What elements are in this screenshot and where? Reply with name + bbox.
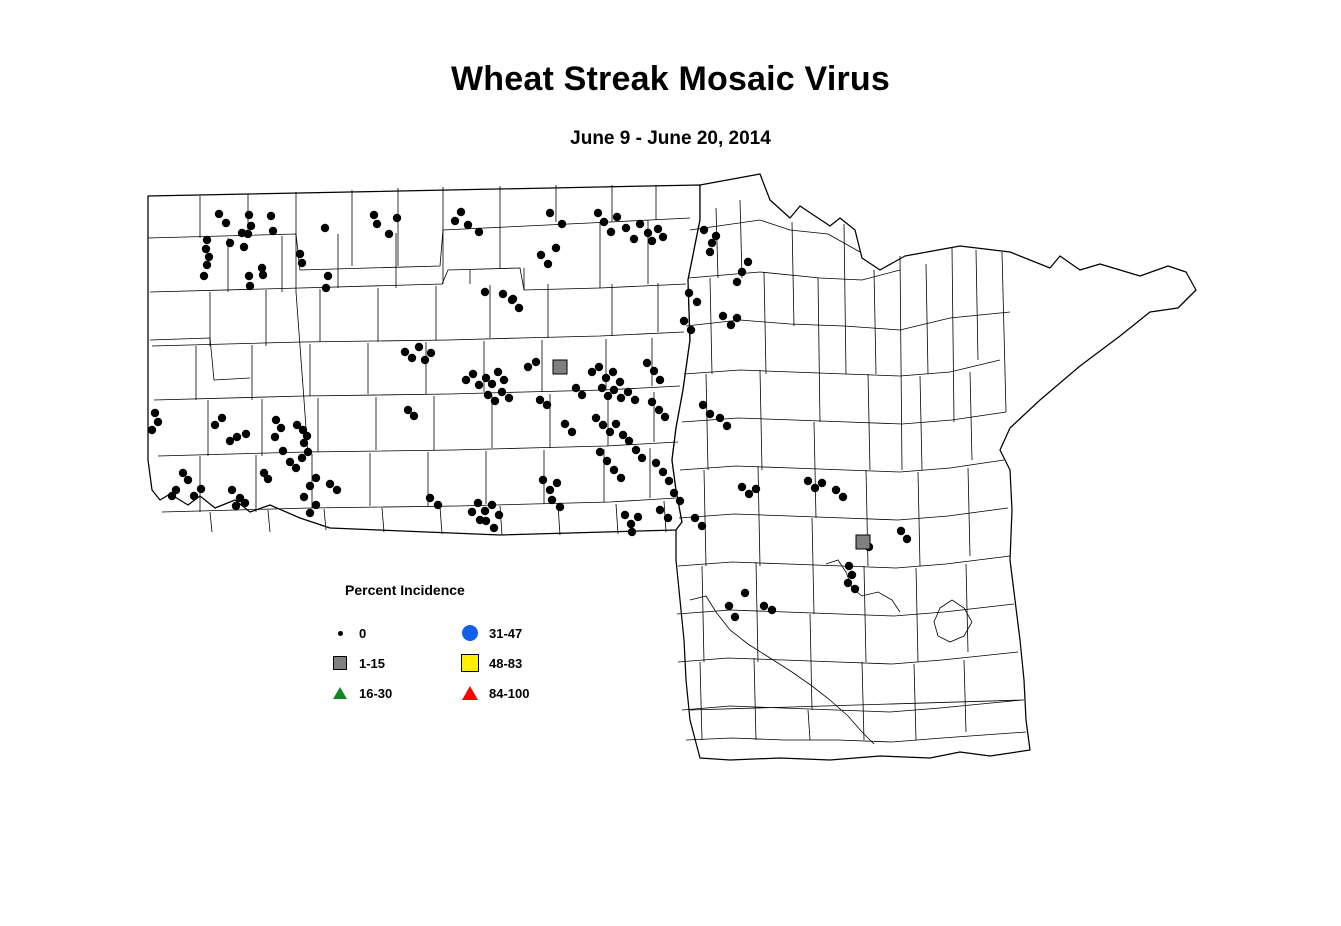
map-marker-zero [469,370,477,378]
map-marker-zero [494,368,502,376]
map-marker-zero [312,474,320,482]
map-marker-zero [687,326,695,334]
map-marker-zero [426,494,434,502]
map-marker-zero [698,522,706,530]
map-marker-zero [474,499,482,507]
map-marker-zero [536,396,544,404]
map-marker-zero [744,258,752,266]
map-marker-low [856,535,870,549]
map-marker-zero [408,354,416,362]
map-marker-zero [594,209,602,217]
map-marker-zero [197,485,205,493]
map-marker-zero [277,424,285,432]
map-marker-zero [665,477,673,485]
map-marker-zero [897,527,905,535]
map-marker-zero [298,259,306,267]
map-marker-zero [271,433,279,441]
map-marker-zero [727,321,735,329]
map-marker-zero [228,486,236,494]
map-marker-zero [712,232,720,240]
legend-label-3: 31-47 [489,626,522,641]
map-marker-zero [370,211,378,219]
map-marker-zero [656,376,664,384]
legend: Percent Incidence 0 1-15 16-30 31-47 [345,582,585,712]
map-marker-zero [215,210,223,218]
map-marker-zero [524,363,532,371]
map-marker-zero [300,493,308,501]
map-marker-zero [468,508,476,516]
map-marker-zero [661,413,669,421]
map-marker-zero [636,220,644,228]
map-marker-zero [296,250,304,258]
map-canvas[interactable] [0,160,1341,780]
map-marker-zero [691,514,699,522]
map-marker-zero [481,288,489,296]
map-marker-zero [733,278,741,286]
legend-item-2: 16-30 [327,678,392,708]
map-marker-zero [654,225,662,233]
map-marker-zero [602,374,610,382]
map-marker-zero [685,289,693,297]
map-marker-zero [304,448,312,456]
map-marker-zero [385,230,393,238]
legend-item-4: 48-83 [457,648,529,678]
map-marker-zero [610,386,618,394]
map-marker-zero [656,506,664,514]
map-marker-zero [490,524,498,532]
map-marker-zero [625,437,633,445]
blue-circle-icon [457,625,483,641]
map-marker-zero [628,528,636,536]
map-marker-zero [648,237,656,245]
map-marker-zero [427,349,435,357]
legend-item-5: 84-100 [457,678,529,708]
legend-item-0: 0 [327,618,392,648]
map-marker-zero [700,226,708,234]
map-marker-zero [848,571,856,579]
map-marker-zero [484,391,492,399]
map-marker-zero [238,229,246,237]
map-marker-zero [205,253,213,261]
map-marker-zero [619,431,627,439]
legend-item-3: 31-47 [457,618,529,648]
map-marker-zero [434,501,442,509]
map-marker-zero [333,486,341,494]
map-marker-zero [404,406,412,414]
map-marker-zero [609,368,617,376]
map-marker-zero [292,464,300,472]
map-marker-zero [211,421,219,429]
map-marker-zero [488,501,496,509]
map-marker-zero [612,420,620,428]
map-marker-zero [699,401,707,409]
map-marker-zero [768,606,776,614]
map-marker-zero [240,243,248,251]
map-marker-zero [752,485,760,493]
map-marker-zero [903,535,911,543]
map-marker-zero [664,514,672,522]
map-marker-zero [845,562,853,570]
map-marker-zero [568,428,576,436]
map-marker-zero [410,412,418,420]
yellow-square-icon [457,654,483,672]
map-marker-zero [245,211,253,219]
map-marker-zero [179,469,187,477]
map-marker-zero [508,296,516,304]
map-marker-zero [312,501,320,509]
map-marker-zero [267,212,275,220]
map-marker-zero [725,602,733,610]
map-marker-zero [495,511,503,519]
map-marker-zero [621,511,629,519]
map-marker-zero [279,447,287,455]
map-marker-zero [451,217,459,225]
map-marker-zero [548,496,556,504]
map-marker-zero [532,358,540,366]
map-marker-zero [421,356,429,364]
small-black-dot-icon [327,631,353,636]
map-marker-zero [203,236,211,244]
map-marker-zero [588,368,596,376]
map-marker-zero [151,409,159,417]
map-marker-zero [269,227,277,235]
map-marker-zero [184,476,192,484]
map-marker-zero [259,271,267,279]
map-marker-zero [286,458,294,466]
map-marker-zero [232,502,240,510]
map-marker-zero [659,468,667,476]
map-marker-zero [226,239,234,247]
map-marker-zero [603,457,611,465]
map-marker-zero [627,520,635,528]
map-marker-zero [498,388,506,396]
legend-column-left: 0 1-15 16-30 [327,618,392,708]
map-marker-zero [322,284,330,292]
map-marker-zero [617,474,625,482]
legend-label-2: 16-30 [359,686,392,701]
map-marker-zero [247,222,255,230]
map-marker-zero [723,422,731,430]
map-marker-zero [604,392,612,400]
map-marker-zero [326,480,334,488]
map-marker-zero [738,268,746,276]
map-marker-zero [475,228,483,236]
map-marker-zero [544,260,552,268]
map-marker-zero [558,220,566,228]
map-marker-zero [716,414,724,422]
map-marker-zero [300,439,308,447]
map-marker-zero [693,298,701,306]
map-marker-zero [598,384,606,392]
map-marker-zero [655,406,663,414]
map-marker-zero [741,589,749,597]
map-marker-zero [643,359,651,367]
page-title: Wheat Streak Mosaic Virus [0,60,1341,99]
map-marker-zero [630,235,638,243]
map-marker-zero [832,486,840,494]
map-marker-zero [616,378,624,386]
map-marker-zero [839,493,847,501]
map-marker-zero [607,228,615,236]
legend-label-5: 84-100 [489,686,529,701]
map-marker-zero [561,420,569,428]
page-subtitle: June 9 - June 20, 2014 [0,128,1341,150]
map-marker-zero [457,208,465,216]
map-marker-zero [552,244,560,252]
map-marker-zero [670,489,678,497]
legend-label-4: 48-83 [489,656,522,671]
map-marker-zero [488,380,496,388]
map-marker-zero [324,272,332,280]
map-svg [0,160,1341,780]
map-marker-zero [738,483,746,491]
map-marker-zero [572,384,580,392]
map-marker-zero [500,376,508,384]
map-marker-zero [233,433,241,441]
map-marker-zero [482,374,490,382]
map-marker-zero [706,410,714,418]
map-marker-zero [613,213,621,221]
map-marker-zero [415,343,423,351]
map-marker-zero [556,503,564,511]
map-marker-zero [652,459,660,467]
map-marker-zero [373,220,381,228]
gray-square-icon [327,656,353,670]
map-marker-zero [638,454,646,462]
map-marker-zero [218,414,226,422]
map-marker-zero [245,272,253,280]
map-marker-zero [246,282,254,290]
map-marker-zero [731,613,739,621]
map-marker-zero [650,367,658,375]
map-marker-zero [200,272,208,280]
map-marker-zero [321,224,329,232]
map-marker-zero [190,492,198,500]
map-marker-zero [760,602,768,610]
map-marker-zero [599,421,607,429]
legend-column-right: 31-47 48-83 84-100 [457,618,529,708]
map-marker-zero [553,479,561,487]
map-marker-zero [306,509,314,517]
map-marker-zero [818,479,826,487]
map-marker-zero [491,397,499,405]
map-marker-zero [148,426,156,434]
map-marker-zero [811,484,819,492]
green-triangle-icon [327,687,353,699]
map-marker-zero [476,516,484,524]
map-marker-zero [393,214,401,222]
map-marker-zero [644,229,652,237]
map-marker-zero [659,233,667,241]
map-marker-zero [154,418,162,426]
map-marker-zero [168,492,176,500]
map-marker-zero [481,507,489,515]
red-triangle-icon [457,686,483,700]
map-marker-zero [706,248,714,256]
map-marker-zero [543,401,551,409]
legend-label-1: 1-15 [359,656,385,671]
map-marker-zero [592,414,600,422]
map-marker-zero [624,388,632,396]
legend-label-0: 0 [359,626,366,641]
map-marker-zero [680,317,688,325]
map-marker-low [553,360,567,374]
map-marker-zero [306,482,314,490]
map-marker-zero [241,499,249,507]
map-marker-zero [851,585,859,593]
map-marker-zero [462,376,470,384]
map-marker-zero [499,290,507,298]
map-marker-zero [401,348,409,356]
map-marker-zero [634,513,642,521]
map-marker-zero [648,398,656,406]
map-marker-zero [546,486,554,494]
map-marker-zero [610,466,618,474]
map-marker-zero [475,381,483,389]
map-marker-zero [596,448,604,456]
map-marker-zero [632,446,640,454]
map-marker-zero [242,430,250,438]
map-marker-zero [203,261,211,269]
map-marker-zero [539,476,547,484]
map-marker-zero [272,416,280,424]
map-marker-zero [578,391,586,399]
map-marker-zero [546,209,554,217]
map-marker-zero [222,219,230,227]
map-marker-zero [719,312,727,320]
map-marker-zero [733,314,741,322]
map-marker-zero [617,394,625,402]
legend-title: Percent Incidence [345,582,585,598]
legend-item-1: 1-15 [327,648,392,678]
map-marker-zero [844,579,852,587]
map-marker-zero [676,497,684,505]
map-marker-zero [298,454,306,462]
map-marker-zero [202,245,210,253]
map-marker-zero [537,251,545,259]
map-marker-zero [631,396,639,404]
map-marker-zero [505,394,513,402]
map-marker-zero [464,221,472,229]
map-marker-zero [745,490,753,498]
map-marker-zero [606,428,614,436]
map-marker-zero [264,475,272,483]
map-marker-zero [804,477,812,485]
map-marker-zero [600,218,608,226]
map-marker-zero [515,304,523,312]
map-marker-zero [595,363,603,371]
map-marker-zero [622,224,630,232]
